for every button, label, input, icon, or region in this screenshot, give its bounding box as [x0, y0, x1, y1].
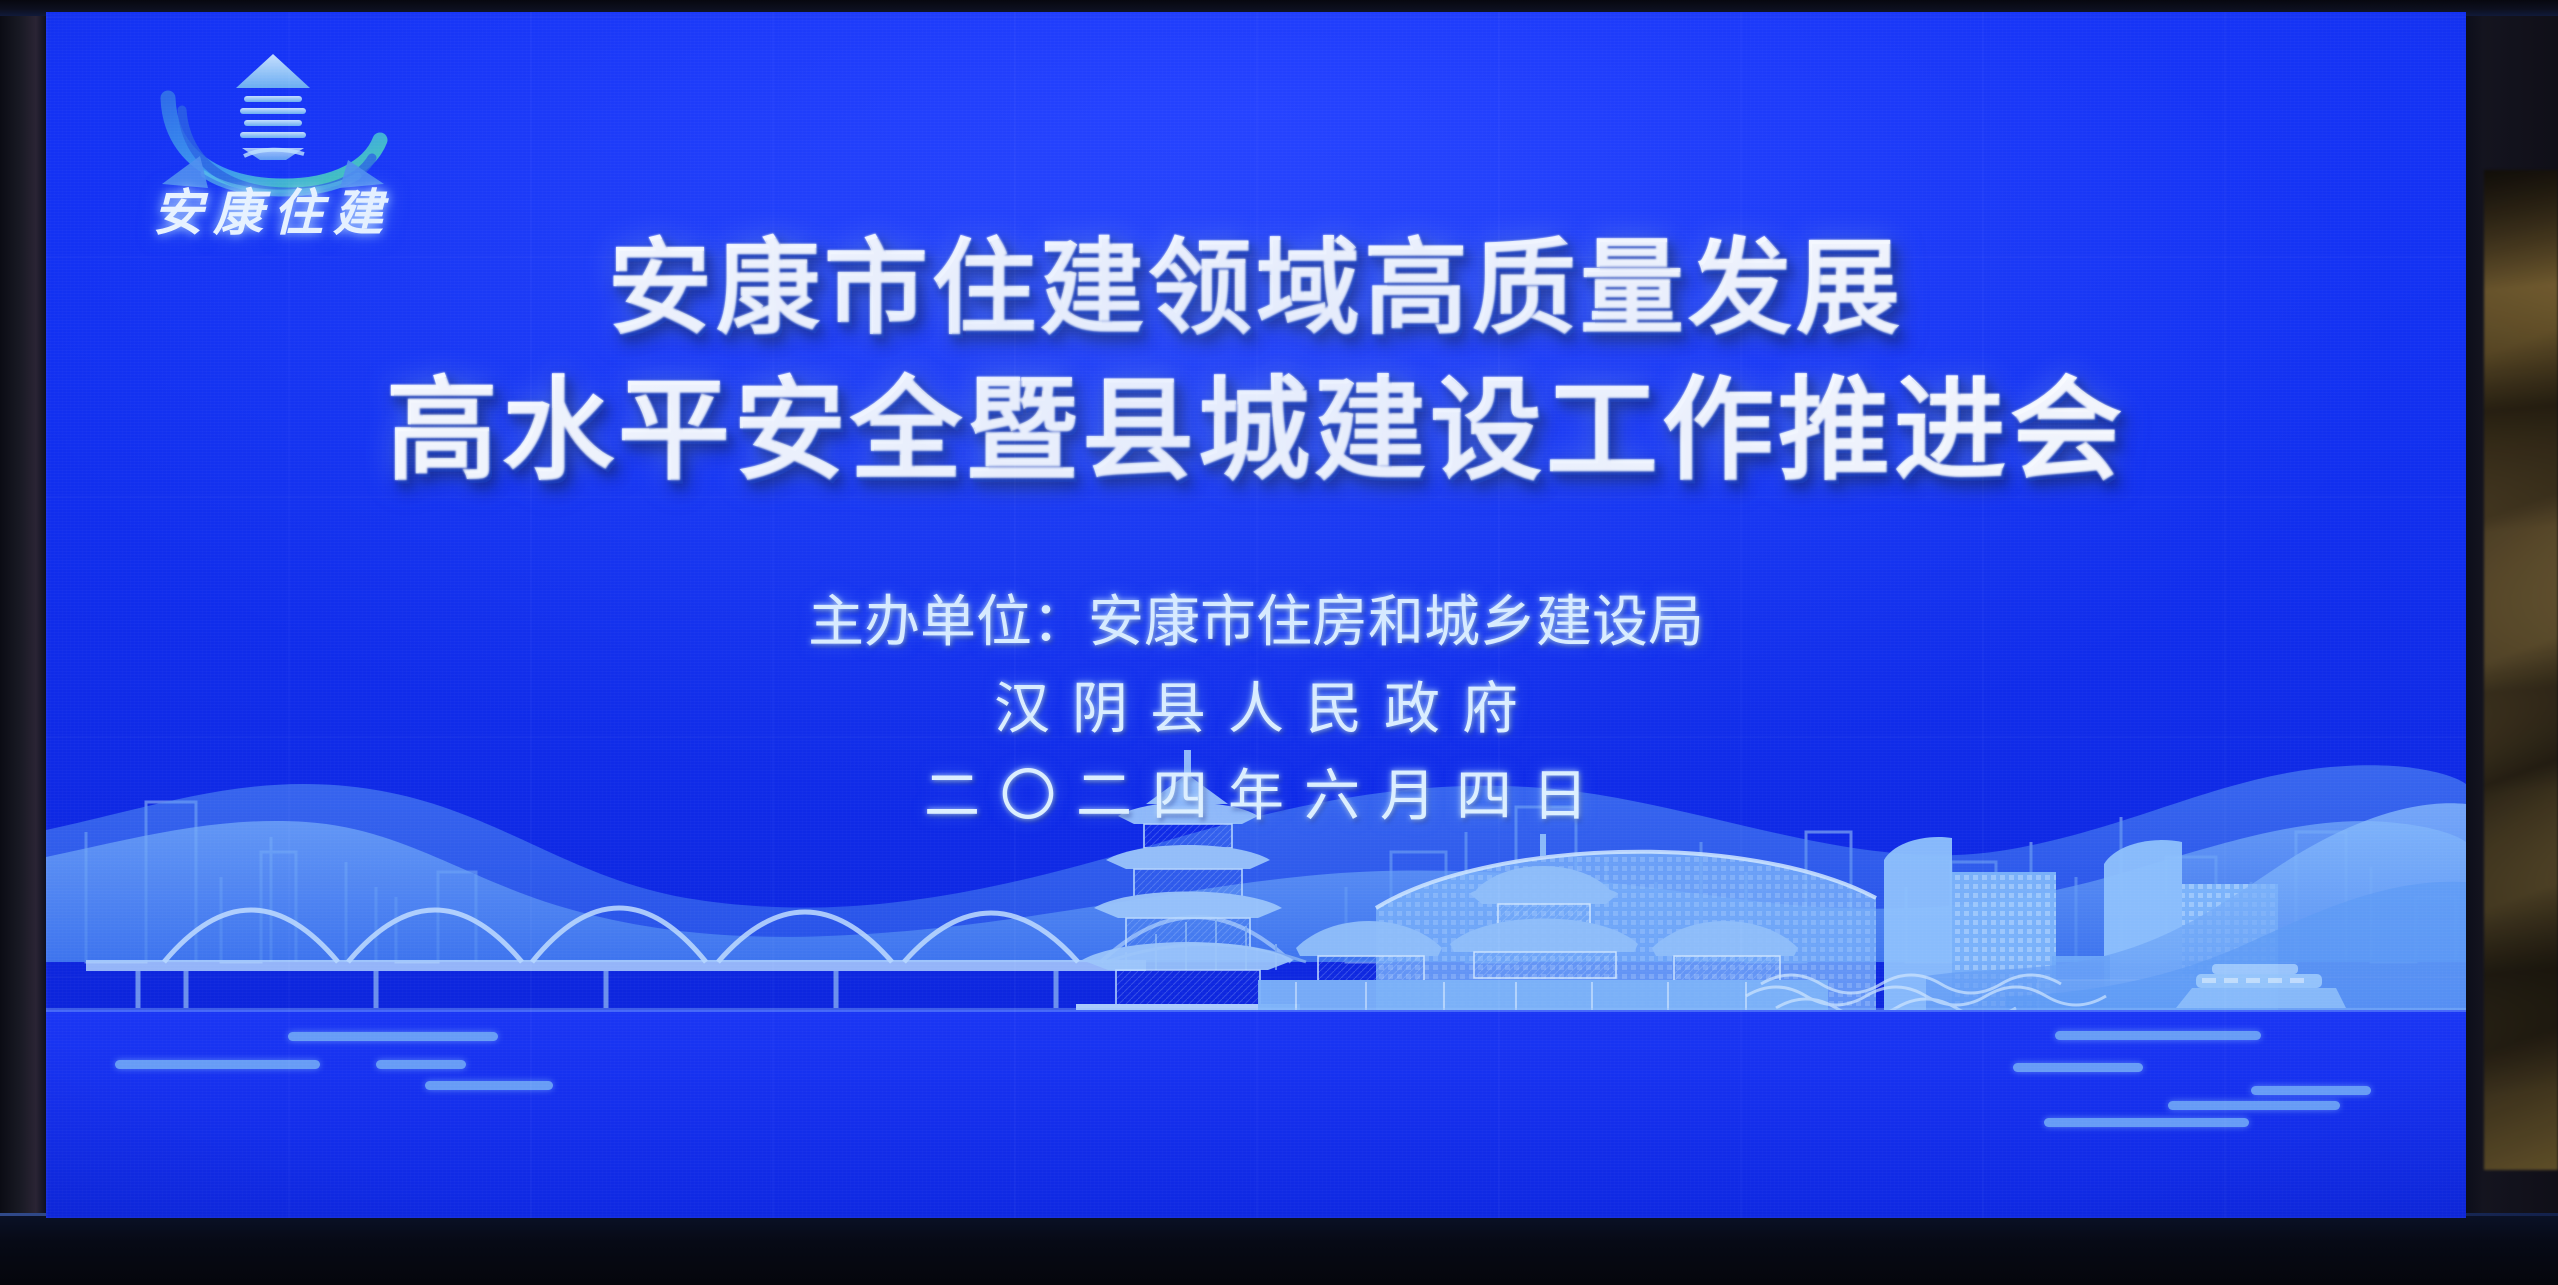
ankang-housing-construction-logo: 安康住建 [108, 36, 438, 251]
room-wall-left [0, 0, 46, 1285]
gold-curtain-strip [2484, 170, 2558, 1170]
room-wall-right [2466, 0, 2558, 1285]
stage-front-edge [0, 1213, 2558, 1285]
led-screen: 安康住建 安康市住建领域高质量发展 高水平安全暨县城建设工作推进会 主办单位：安… [46, 12, 2466, 1218]
banner-subtitle-block: 主办单位：安康市住房和城乡建设局 汉阴县人民政府 二〇二四年六月四日 [46, 580, 2466, 840]
water-stroke [288, 1032, 498, 1041]
photo-of-conference-hall: 安康住建 安康市住建领域高质量发展 高水平安全暨县城建设工作推进会 主办单位：安… [0, 0, 2558, 1285]
water-stroke [425, 1081, 553, 1090]
pagoda-icon [236, 54, 310, 160]
water-stroke [2168, 1101, 2340, 1110]
water-stroke [2055, 1031, 2261, 1040]
water-stroke [2251, 1086, 2371, 1095]
water-stroke [376, 1060, 466, 1069]
co-organizer-line: 汉阴县人民政府 [46, 667, 2466, 754]
water-stroke [2044, 1118, 2249, 1127]
headline-line-1: 安康市住建领域高质量发展 [46, 227, 2466, 354]
organizer-line: 主办单位：安康市住房和城乡建设局 [46, 580, 2466, 667]
water-stroke [2013, 1063, 2143, 1072]
water-stroke [115, 1060, 320, 1069]
date-line: 二〇二四年六月四日 [46, 754, 2466, 841]
banner-headline: 安康市住建领域高质量发展 高水平安全暨县城建设工作推进会 [46, 227, 2466, 501]
headline-line-2: 高水平安全暨县城建设工作推进会 [46, 364, 2466, 501]
